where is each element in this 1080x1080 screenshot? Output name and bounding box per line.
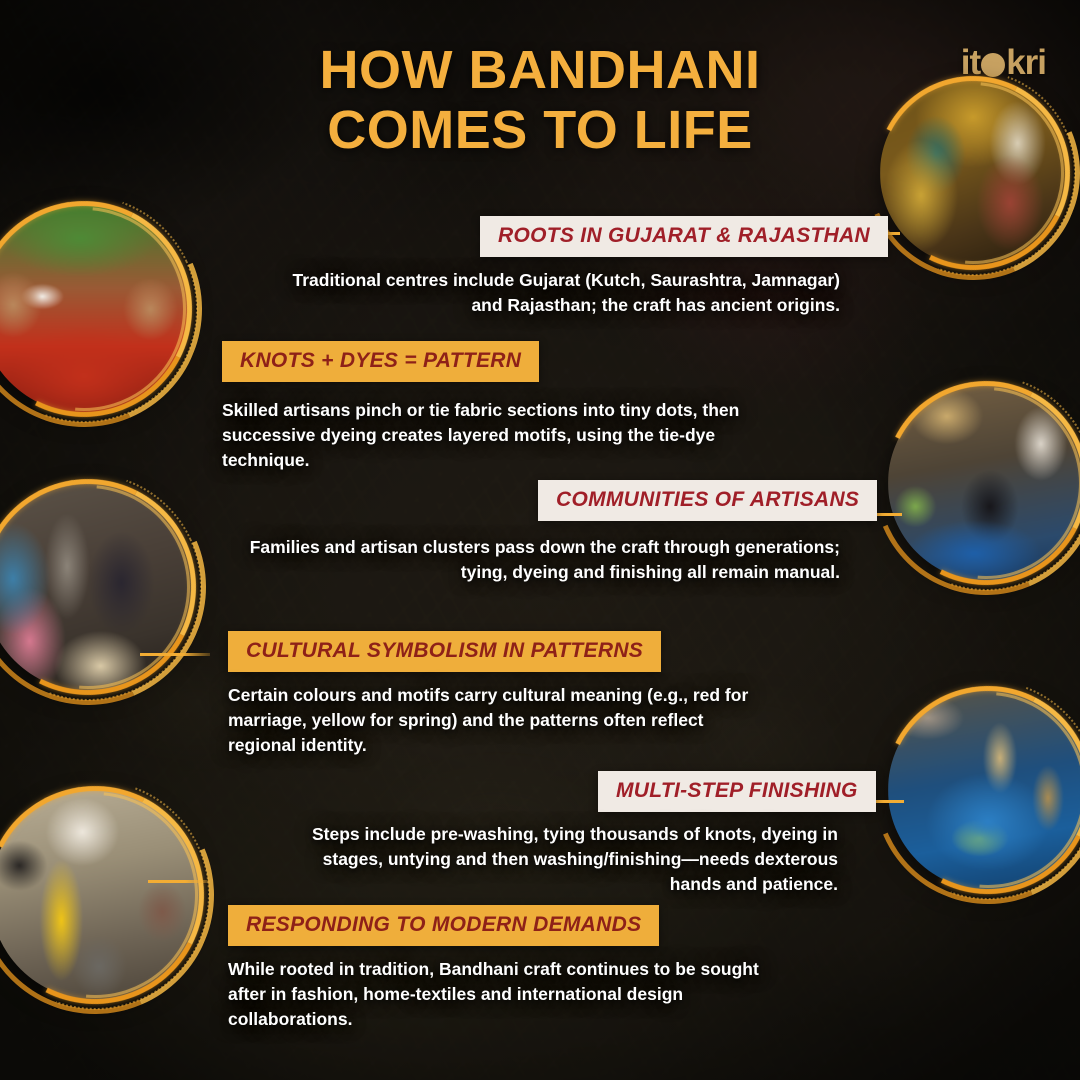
photo-content xyxy=(888,385,1080,581)
section-body-roots: Traditional centres include Gujarat (Kut… xyxy=(280,268,840,318)
brand-logo[interactable]: itkri xyxy=(928,42,1046,84)
connector-line-6 xyxy=(148,880,210,883)
logo-circle-icon xyxy=(981,53,1005,77)
brand-logo-text: it xyxy=(961,43,980,82)
photo-content xyxy=(0,483,192,691)
photo-dyer-blue-tub xyxy=(888,385,1080,581)
section-label-roots[interactable]: ROOTS IN GUJARAT & RAJASTHAN xyxy=(480,216,888,257)
section-body-finishing: Steps include pre-washing, tying thousan… xyxy=(280,822,838,897)
section-label-symbolism[interactable]: CULTURAL SYMBOLISM IN PATTERNS xyxy=(228,631,661,672)
photo-content xyxy=(0,790,200,1000)
photo-hands-tying-red-fabric xyxy=(0,205,188,413)
photo-content xyxy=(888,690,1080,890)
section-body-knots-dyes: Skilled artisans pinch or tie fabric sec… xyxy=(222,398,758,473)
photo-women-tying-yellow-red xyxy=(880,80,1066,266)
connector-line-3 xyxy=(140,653,210,656)
photo-content xyxy=(880,80,1066,266)
section-label-modern-demands[interactable]: RESPONDING TO MODERN DEMANDS xyxy=(228,905,659,946)
infographic-poster: HOW BANDHANI COMES TO LIFE itkri xyxy=(0,0,1080,1080)
photo-blue-dye-vat xyxy=(888,690,1080,890)
photo-lifting-yellow-cloth xyxy=(0,790,200,1000)
photo-content xyxy=(0,205,188,413)
title-line-1: HOW BANDHANI xyxy=(320,40,761,100)
section-label-knots-dyes[interactable]: KNOTS + DYES = PATTERN xyxy=(222,341,539,382)
section-body-modern-demands: While rooted in tradition, Bandhani craf… xyxy=(228,957,788,1032)
photo-woman-tying-cream-cloth xyxy=(0,483,192,691)
section-label-finishing[interactable]: MULTI-STEP FINISHING xyxy=(598,771,876,812)
section-label-communities[interactable]: COMMUNITIES OF ARTISANS xyxy=(538,480,877,521)
brand-logo-text-2: kri xyxy=(1006,43,1046,82)
section-body-communities: Families and artisan clusters pass down … xyxy=(240,535,840,585)
section-body-symbolism: Certain colours and motifs carry cultura… xyxy=(228,683,772,758)
